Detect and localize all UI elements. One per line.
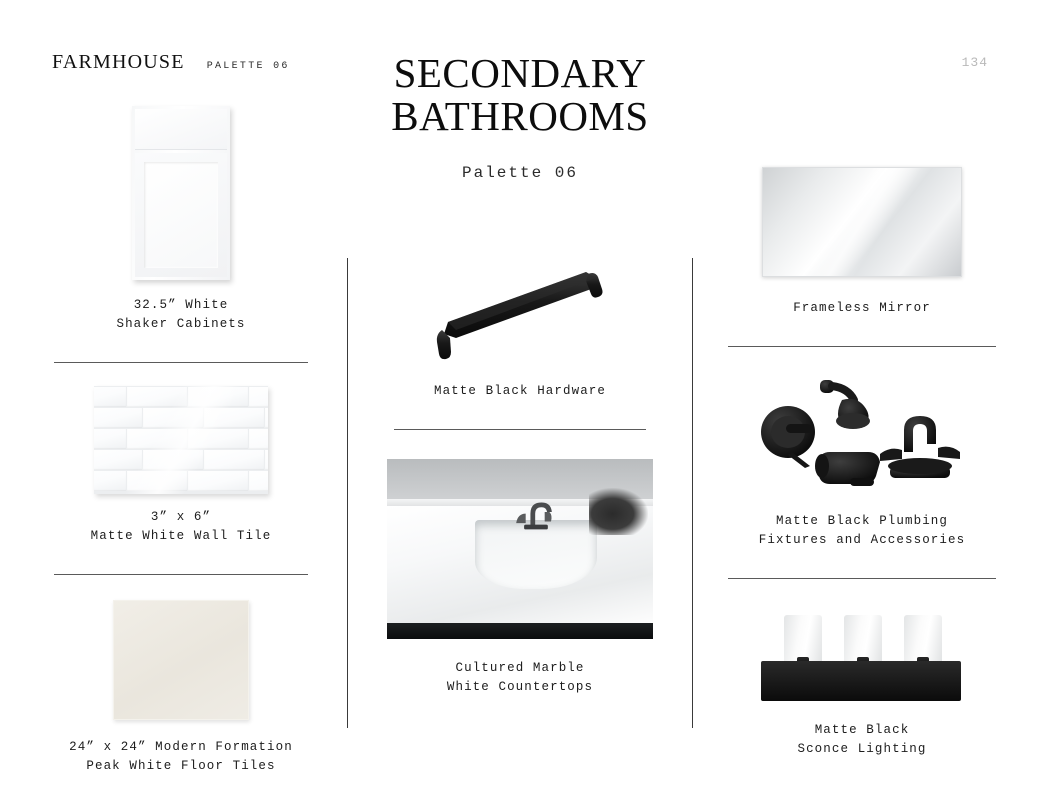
caption-frameless-mirror: Frameless Mirror xyxy=(716,299,1008,318)
photo-counter-edge xyxy=(387,623,653,639)
right-column: Frameless Mirror xyxy=(716,0,1008,804)
caption-matte-white-wall-tile: 3” x 6” Matte White Wall Tile xyxy=(36,508,326,546)
divider-mid-1 xyxy=(394,429,646,430)
column-divider-left xyxy=(347,258,348,728)
sconce-graphic xyxy=(757,607,967,703)
floor-tile-image xyxy=(36,600,326,720)
caption-matte-black-plumbing: Matte Black Plumbing Fixtures and Access… xyxy=(716,512,1008,550)
mirror-image xyxy=(716,165,1008,277)
shower-head xyxy=(820,380,870,429)
tub-spout xyxy=(815,452,880,486)
cabinet-drawer-panel xyxy=(135,109,227,150)
middle-column: Matte Black Hardware xyxy=(352,0,688,804)
item-matte-black-hardware: Matte Black Hardware xyxy=(352,255,688,430)
divider-right-2 xyxy=(728,578,996,579)
bar-pull-graphic xyxy=(422,264,618,360)
photo-faucet xyxy=(507,493,560,533)
subway-tile-graphic xyxy=(94,386,268,494)
bar-pull-image xyxy=(352,255,688,360)
item-white-shaker-cabinets: 32.5” White Shaker Cabinets xyxy=(36,105,326,363)
sconce-image xyxy=(716,603,1008,703)
shaker-cabinet-graphic xyxy=(132,106,230,280)
caption-matte-black-hardware: Matte Black Hardware xyxy=(352,382,688,401)
divider-left-2 xyxy=(54,574,308,575)
sconce-mounting-bar xyxy=(761,661,961,701)
cabinet-door-panel xyxy=(135,153,227,277)
item-frameless-mirror: Frameless Mirror xyxy=(716,165,1008,347)
frameless-mirror-graphic xyxy=(762,167,962,277)
countertop-photo xyxy=(352,457,688,639)
divider-left-1 xyxy=(54,362,308,363)
photo-accessories xyxy=(589,488,648,535)
countertop-graphic xyxy=(387,459,653,639)
divider-right-1 xyxy=(728,346,996,347)
plumbing-image xyxy=(716,368,1008,496)
column-divider-right xyxy=(692,258,693,728)
caption-white-shaker-cabinets: 32.5” White Shaker Cabinets xyxy=(36,296,326,334)
shower-valve-trim xyxy=(761,406,815,468)
caption-matte-black-sconce-lighting: Matte Black Sconce Lighting xyxy=(716,721,1008,759)
subway-tile-image xyxy=(36,384,326,494)
centerset-faucet xyxy=(880,416,960,478)
item-cultured-marble-countertops: Cultured Marble White Countertops xyxy=(352,457,688,697)
palette-board-page: FARMHOUSE PALETTE 06 134 SECONDARY BATHR… xyxy=(0,0,1040,804)
caption-peak-white-floor-tiles: 24” x 24” Modern Formation Peak White Fl… xyxy=(36,738,326,776)
item-matte-black-plumbing: Matte Black Plumbing Fixtures and Access… xyxy=(716,368,1008,579)
caption-cultured-marble-countertops: Cultured Marble White Countertops xyxy=(352,659,688,697)
floor-tile-graphic xyxy=(113,600,249,720)
left-column: 32.5” White Shaker Cabinets xyxy=(36,0,326,804)
item-matte-white-wall-tile: 3” x 6” Matte White Wall Tile xyxy=(36,384,326,575)
plumbing-fixtures-graphic xyxy=(754,374,970,496)
item-matte-black-sconce-lighting: Matte Black Sconce Lighting xyxy=(716,603,1008,759)
cabinet-image xyxy=(36,105,326,280)
item-peak-white-floor-tiles: 24” x 24” Modern Formation Peak White Fl… xyxy=(36,600,326,776)
